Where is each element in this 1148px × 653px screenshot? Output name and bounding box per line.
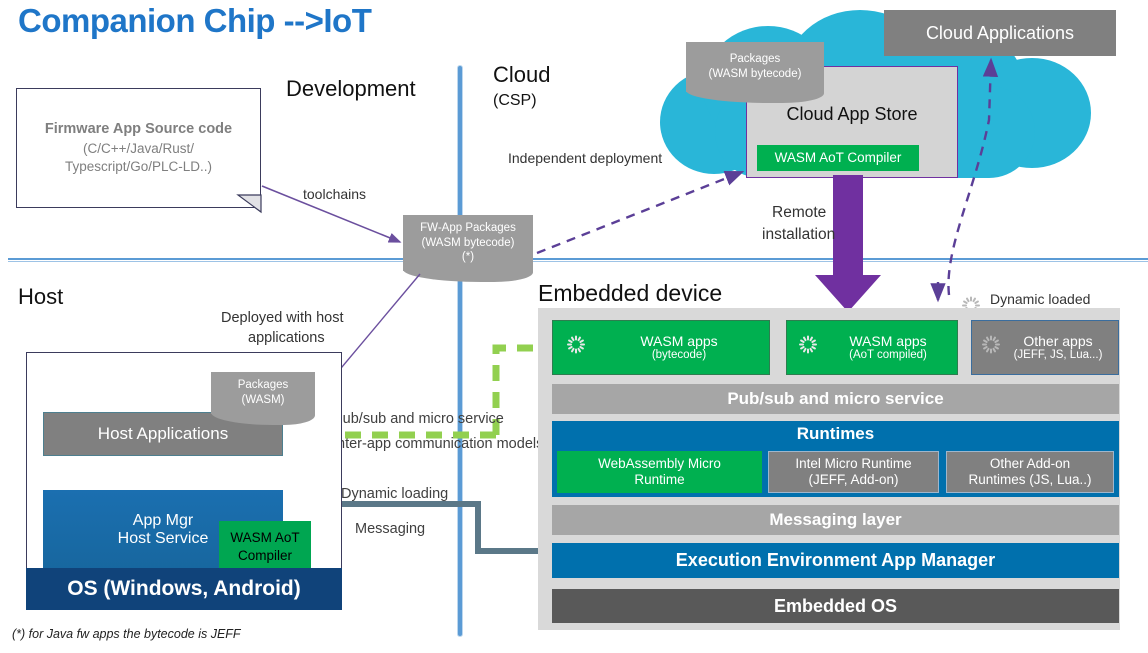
- footnote: (*) for Java fw apps the bytecode is JEF…: [12, 627, 241, 641]
- embedded-runtime-1[interactable]: Intel Micro Runtime (JEFF, Add-on): [768, 451, 939, 493]
- cloud-apps-uplink-arrow: [948, 60, 991, 295]
- embedded-messaging-layer[interactable]: Messaging layer: [552, 505, 1119, 535]
- embedded-runtimes-title: Runtimes: [552, 422, 1119, 446]
- independent-deployment-arrow: [537, 172, 742, 253]
- label-dynamic-loading: Dynamic loading: [341, 486, 448, 502]
- embedded-os-label: Embedded OS: [774, 596, 897, 617]
- embedded-runtime-2-line2: Runtimes (JS, Lua..): [968, 472, 1091, 488]
- embedded-app-0-sub: (bytecode): [652, 349, 706, 362]
- app-mgr-line1: App Mgr: [133, 512, 193, 530]
- embedded-runtime-1-line2: (JEFF, Add-on): [808, 472, 898, 488]
- embedded-runtime-2-line1: Other Add-on: [990, 456, 1070, 472]
- embedded-app-1[interactable]: WASM apps (AoT compiled): [786, 320, 958, 375]
- host-packages-tag: Packages (WASM): [211, 372, 315, 414]
- embedded-app-2-sub: (JEFF, JS, Lua...): [1014, 349, 1103, 362]
- embedded-app-0-name: WASM apps: [640, 333, 717, 349]
- embedded-runtime-2[interactable]: Other Add-on Runtimes (JS, Lua..): [946, 451, 1114, 493]
- embedded-pubsub-bar[interactable]: Pub/sub and micro service: [552, 384, 1119, 414]
- embedded-runtime-0[interactable]: WebAssembly Micro Runtime: [557, 451, 762, 493]
- label-deployed-with-host-1: Deployed with host: [221, 310, 344, 326]
- label-inter-app-models: Inter-app communication models: [333, 436, 543, 452]
- label-deployed-with-host-2: applications: [248, 330, 325, 346]
- dynamic-loaded-spinner-icon: [960, 288, 982, 310]
- label-pubsub-micro-service: Pub/sub and micro service: [333, 411, 504, 427]
- host-aot-line2: Compiler: [238, 547, 292, 565]
- embedded-runtime-0-line2: Runtime: [634, 472, 684, 488]
- label-messaging: Messaging: [355, 521, 425, 537]
- embedded-exec-env-label: Execution Environment App Manager: [676, 550, 995, 571]
- wasm-apps-bytecode-spinner-icon: [565, 327, 587, 349]
- embedded-runtimes-block: Runtimes WebAssembly Micro Runtime Intel…: [552, 421, 1119, 497]
- host-packages-line1: Packages: [238, 378, 289, 393]
- label-remote-installation-2: installation: [762, 226, 835, 244]
- slide-canvas: Companion Chip -->IoT Development Cloud …: [0, 0, 1148, 653]
- embedded-app-0[interactable]: WASM apps (bytecode): [552, 320, 770, 375]
- embedded-os-bar[interactable]: Embedded OS: [552, 589, 1119, 623]
- wasm-apps-aot-spinner-icon: [797, 327, 819, 349]
- label-toolchains: toolchains: [303, 186, 366, 202]
- host-packages-line2: (WASM): [241, 393, 284, 408]
- host-os-box[interactable]: OS (Windows, Android): [26, 568, 342, 610]
- embedded-runtime-1-line1: Intel Micro Runtime: [795, 456, 911, 472]
- host-applications-label: Host Applications: [98, 424, 228, 444]
- label-independent-deployment: Independent deployment: [508, 150, 662, 166]
- embedded-app-1-sub: (AoT compiled): [849, 349, 927, 362]
- embedded-messaging-layer-label: Messaging layer: [769, 510, 901, 530]
- label-remote-installation-1: Remote: [772, 204, 826, 222]
- embedded-runtime-0-line1: WebAssembly Micro: [598, 456, 721, 472]
- embedded-app-2[interactable]: Other apps (JEFF, JS, Lua...): [971, 320, 1119, 375]
- app-mgr-line2: Host Service: [118, 530, 209, 548]
- embedded-pubsub-label: Pub/sub and micro service: [727, 389, 943, 409]
- host-aot-line1: WASM AoT: [230, 529, 299, 547]
- embedded-exec-env[interactable]: Execution Environment App Manager: [552, 543, 1119, 578]
- embedded-app-2-name: Other apps: [1023, 333, 1092, 349]
- embedded-app-1-name: WASM apps: [849, 333, 926, 349]
- host-os-label: OS (Windows, Android): [67, 577, 301, 601]
- host-wasm-aot-compiler-box[interactable]: WASM AoT Compiler: [219, 521, 311, 573]
- label-dynamic-loaded: Dynamic loaded: [990, 291, 1090, 307]
